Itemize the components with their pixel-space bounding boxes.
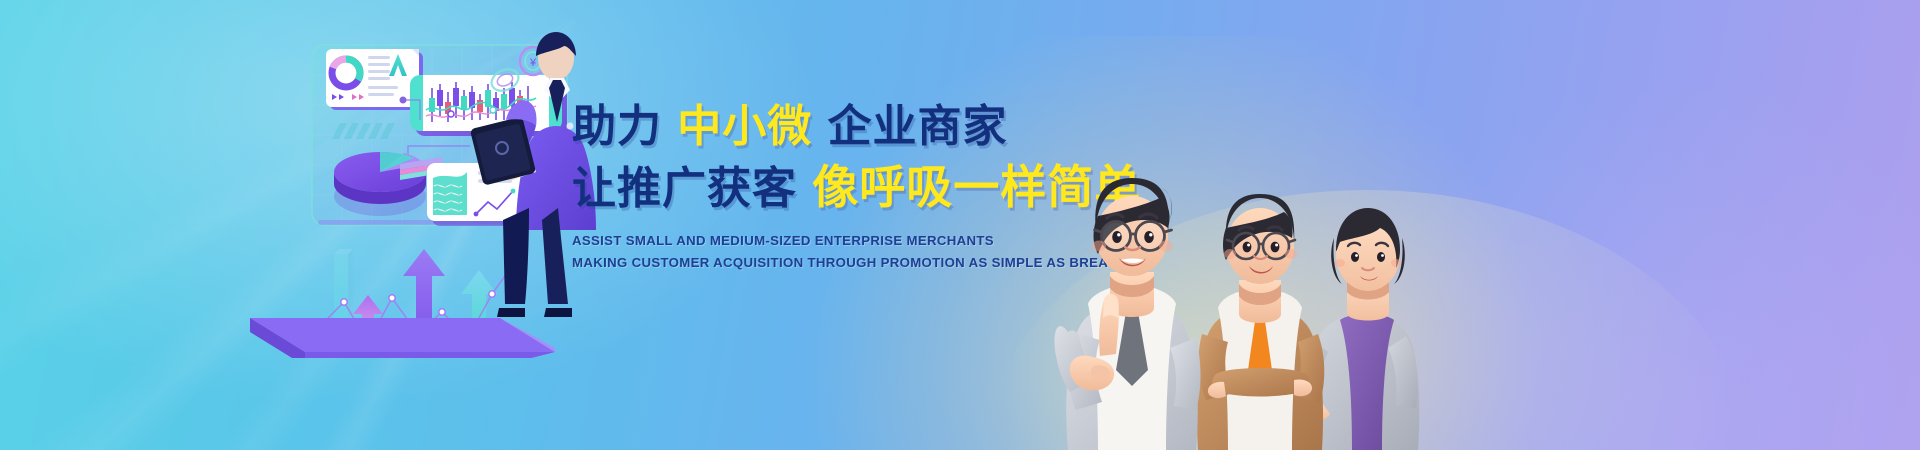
subtitle-block: ASSIST SMALL AND MEDIUM-SIZED ENTERPRISE…: [572, 230, 1042, 274]
svg-text:¥: ¥: [529, 57, 537, 69]
headline-line-2: 让推广获客 像呼吸一样简单: [572, 160, 1042, 216]
headline-1-emphasis: 中小微: [675, 102, 814, 151]
headline-1-post: 企业商家: [827, 102, 1007, 151]
hero-banner: ¥: [0, 0, 1920, 450]
headline-2-pre: 让推广获客: [572, 164, 797, 213]
subtitle-line-2: MAKING CUSTOMER ACQUISITION THROUGH PROM…: [572, 252, 1042, 274]
subtitle-line-1: ASSIST SMALL AND MEDIUM-SIZED ENTERPRISE…: [572, 230, 1042, 252]
donut-chart-card: [326, 49, 423, 110]
man-grey-suit-pointing: [1055, 178, 1201, 450]
man-brown-suit-arms-crossed: [1197, 194, 1324, 450]
headline-line-1: 助力 中小微 企业商家: [572, 100, 1042, 154]
data-analytics-illustration: ¥: [240, 18, 600, 358]
three-business-people: [1010, 120, 1430, 450]
purple-platform: [250, 318, 555, 358]
copy-block: 助力 中小微 企业商家 让推广获客 像呼吸一样简单 ASSIST SMALL A…: [572, 100, 1042, 274]
headline-1-pre: 助力: [572, 102, 662, 151]
